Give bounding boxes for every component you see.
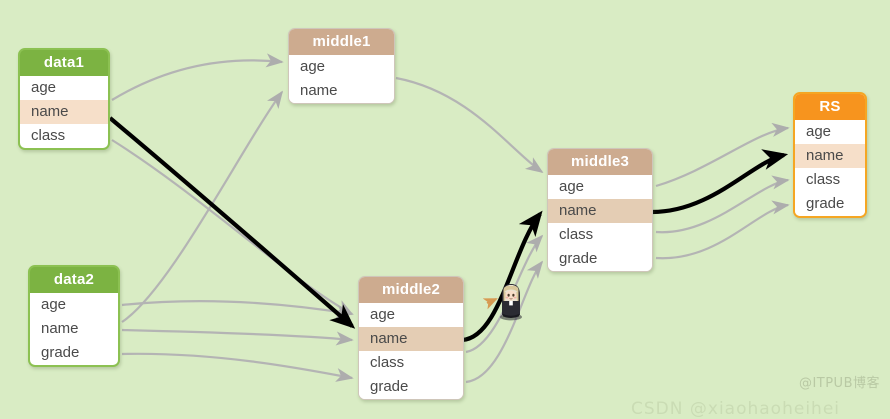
field-data1-name[interactable]: name [20,100,108,124]
node-middle2-header: middle2 [359,277,463,303]
field-middle2-age[interactable]: age [359,303,463,327]
node-data2-header: data2 [30,267,118,293]
watermark-csdn: CSDN @xiaohaoheihei [631,399,840,419]
field-data1-age[interactable]: age [20,76,108,100]
diagram-canvas: data1 age name class data2 age name grad… [0,0,890,413]
field-middle1-name[interactable]: name [289,79,394,103]
edge-middle3-age-to-RS-age [656,128,788,186]
edge-marker-tan-accent [487,299,496,303]
edge-data1-age-to-middle1-age [112,60,282,100]
node-data2-fields: age name grade [30,293,118,365]
cursor-sprite-icon[interactable] [497,281,525,321]
field-data2-age[interactable]: age [30,293,118,317]
edge-data2-grade-to-middle2-grade [122,354,352,378]
field-rs-name[interactable]: name [795,144,865,168]
field-middle3-grade[interactable]: grade [548,247,652,271]
edge-data1-name-to-middle2-name-emphasis [110,118,352,326]
field-middle2-name[interactable]: name [359,327,463,351]
node-middle2[interactable]: middle2 age name class grade [358,276,464,400]
field-middle1-age[interactable]: age [289,55,394,79]
node-middle1[interactable]: middle1 age name [288,28,395,104]
node-rs[interactable]: RS age name class grade [793,92,867,218]
field-middle3-class[interactable]: class [548,223,652,247]
field-data1-class[interactable]: class [20,124,108,148]
node-data1[interactable]: data1 age name class [18,48,110,150]
edge-middle2-grade-to-middle3-grade [466,262,542,382]
field-data2-name[interactable]: name [30,317,118,341]
node-rs-header: RS [795,94,865,120]
field-data2-grade[interactable]: grade [30,341,118,365]
node-data2[interactable]: data2 age name grade [28,265,120,367]
field-middle3-age[interactable]: age [548,175,652,199]
node-middle2-fields: age name class grade [359,303,463,399]
field-rs-grade[interactable]: grade [795,192,865,216]
edge-data2-age-to-middle2-age [122,301,352,314]
edge-middle1-name-to-middle3-age [396,78,542,172]
field-middle2-class[interactable]: class [359,351,463,375]
edge-data1-class-to-middle2-age [112,140,352,314]
node-middle3-fields: age name class grade [548,175,652,271]
node-middle3[interactable]: middle3 age name class grade [547,148,653,272]
field-middle2-grade[interactable]: grade [359,375,463,399]
edge-data2-age-to-middle1-name [122,92,282,322]
node-rs-fields: age name class grade [795,120,865,216]
node-data1-fields: age name class [20,76,108,148]
field-rs-class[interactable]: class [795,168,865,192]
edge-middle2-name-to-middle3-name-emphasis [462,214,540,340]
field-middle3-name[interactable]: name [548,199,652,223]
watermark-itpub: @ITPUB博客 [799,372,880,391]
edge-middle3-name-to-RS-name-emphasis [652,155,784,212]
field-rs-age[interactable]: age [795,120,865,144]
node-middle1-header: middle1 [289,29,394,55]
node-data1-header: data1 [20,50,108,76]
edge-data2-name-to-middle2-name [122,330,352,340]
node-middle1-fields: age name [289,55,394,103]
node-middle3-header: middle3 [548,149,652,175]
